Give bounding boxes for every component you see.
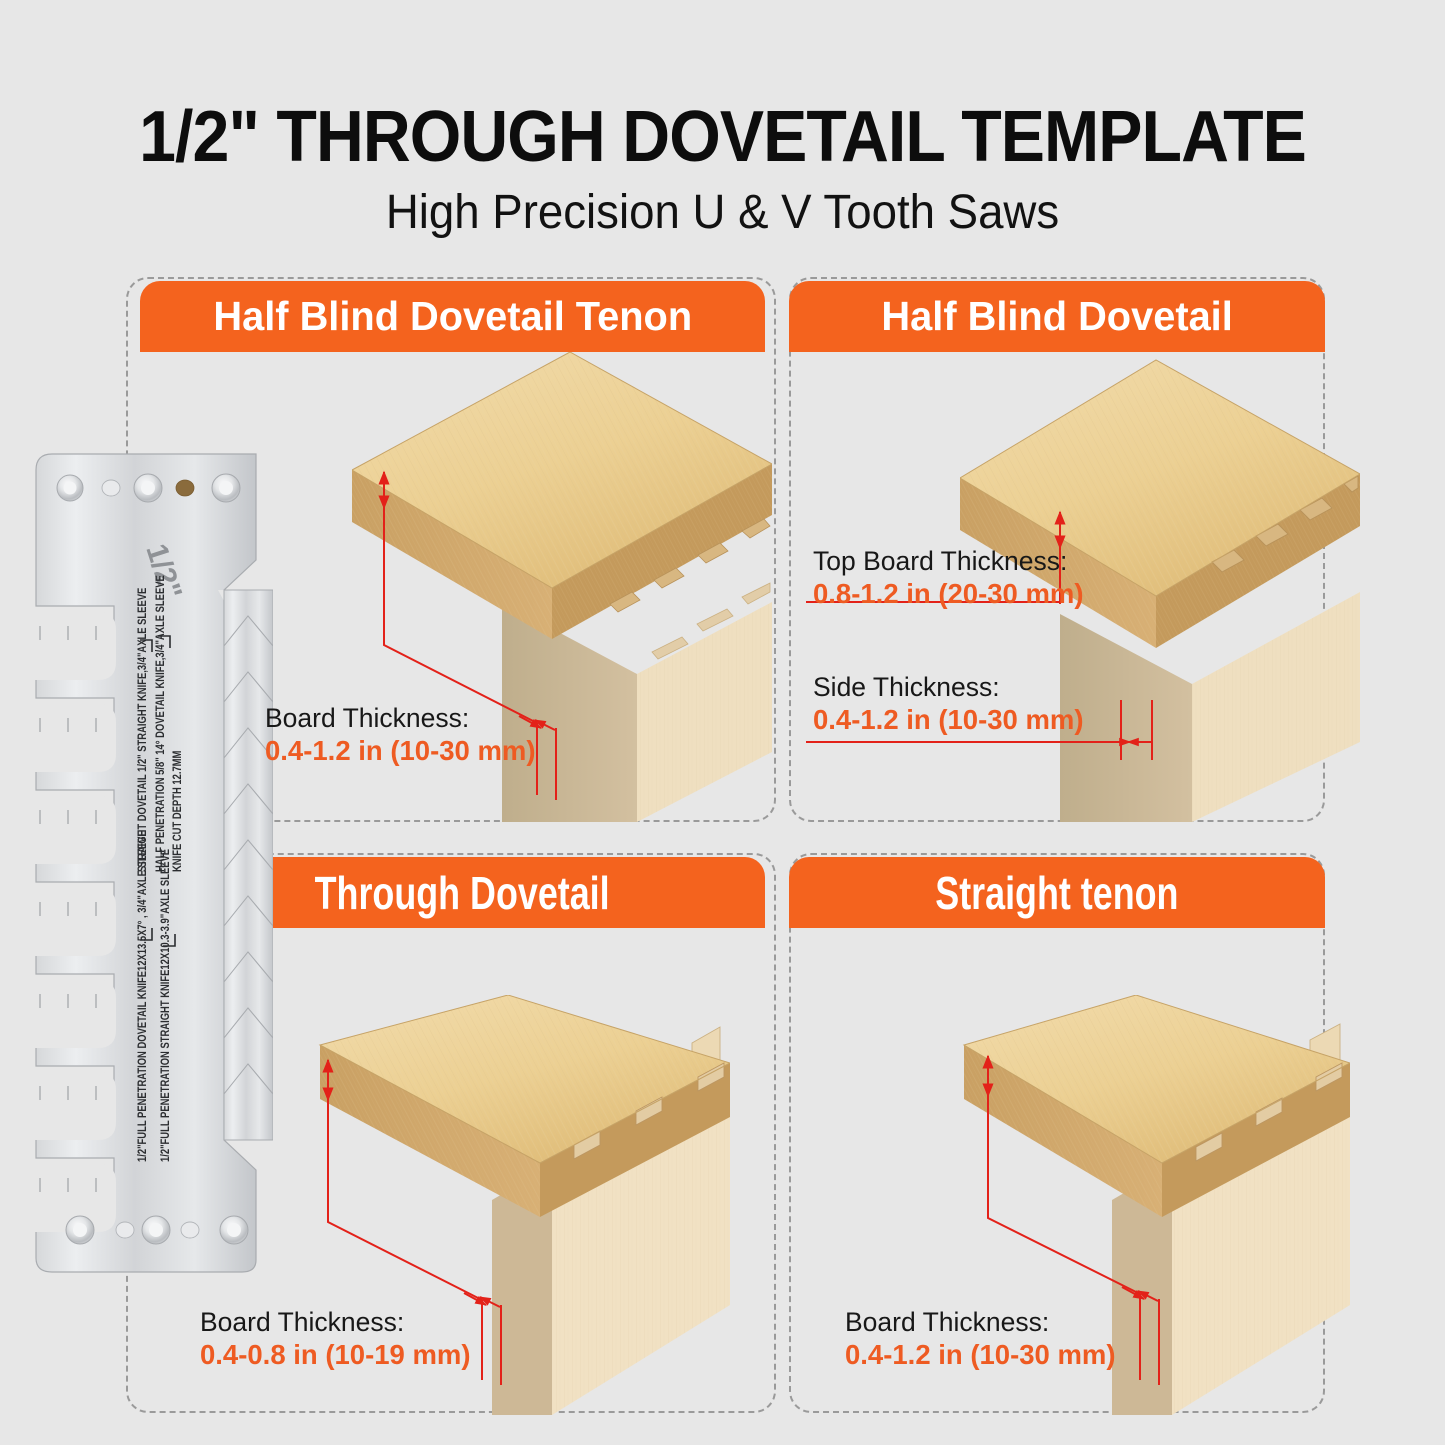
callout-label: Side Thickness:: [813, 672, 1084, 703]
callout-label: Board Thickness:: [265, 703, 536, 734]
panel-title-banner-straight-tenon: Straight tenon: [789, 857, 1325, 928]
panel-title-text: Half Blind Dovetail: [881, 293, 1232, 340]
callout-side-thickness-panel2: Side Thickness: 0.4-1.2 in (10-30 mm): [813, 672, 1084, 736]
callout-value: 0.8-1.2 in (20-30 mm): [813, 577, 1084, 610]
panel-title-text: Through Dovetail: [315, 866, 610, 920]
callout-value: 0.4-0.8 in (10-19 mm): [200, 1338, 471, 1371]
callout-value: 0.4-1.2 in (10-30 mm): [813, 703, 1084, 736]
callout-top-board-thickness-panel2: Top Board Thickness: 0.8-1.2 in (20-30 m…: [813, 546, 1084, 610]
callout-board-thickness-panel3: Board Thickness: 0.4-0.8 in (10-19 mm): [200, 1307, 471, 1371]
panel-title-banner-half-blind-dovetail-tenon: Half Blind Dovetail Tenon: [140, 281, 765, 352]
panel-title-banner-half-blind-dovetail: Half Blind Dovetail: [789, 281, 1325, 352]
callout-board-thickness-panel4: Board Thickness: 0.4-1.2 in (10-30 mm): [845, 1307, 1116, 1371]
panel-title-text: Straight tenon: [935, 866, 1178, 920]
panel-title-text: Half Blind Dovetail Tenon: [213, 293, 692, 340]
page-subtitle: High Precision U & V Tooth Saws: [36, 185, 1409, 240]
panel-title-banner-through-dovetail: Through Dovetail: [160, 857, 765, 928]
callout-label: Top Board Thickness:: [813, 546, 1084, 577]
page-title: 1/2" THROUGH DOVETAIL TEMPLATE: [58, 96, 1387, 178]
callout-label: Board Thickness:: [845, 1307, 1116, 1338]
callout-value: 0.4-1.2 in (10-30 mm): [845, 1338, 1116, 1371]
callout-board-thickness-panel1: Board Thickness: 0.4-1.2 in (10-30 mm): [265, 703, 536, 767]
callout-value: 0.4-1.2 in (10-30 mm): [265, 734, 536, 767]
callout-label: Board Thickness:: [200, 1307, 471, 1338]
